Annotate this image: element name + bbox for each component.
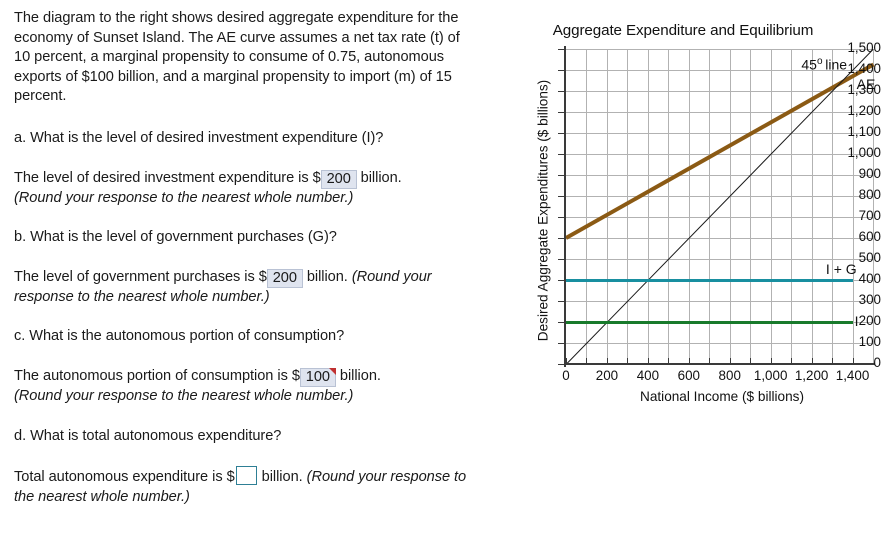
- x-axis-tick: [627, 358, 628, 365]
- gridline-vertical: [648, 49, 649, 364]
- x-axis-tick-label: 1,400: [827, 368, 879, 383]
- y-axis-line: [564, 46, 566, 367]
- y-axis-tick: [558, 343, 565, 344]
- annotation-45-line: 45o line: [801, 56, 847, 73]
- answer-d-suffix: billion.: [258, 469, 307, 485]
- y-axis-tick: [558, 364, 565, 365]
- answer-c-suffix: billion.: [336, 368, 381, 384]
- x-axis-tick: [566, 358, 567, 365]
- x-axis-tick: [812, 358, 813, 365]
- x-axis-tick: [607, 358, 608, 365]
- question-d: d. What is total autonomous expenditure?: [14, 427, 468, 447]
- y-axis-tick: [558, 301, 565, 302]
- y-axis-tick: [558, 238, 565, 239]
- x-axis-tick: [750, 358, 751, 365]
- x-axis-tick: [709, 358, 710, 365]
- y-axis-tick-label: 100: [808, 334, 890, 349]
- gridline-vertical: [730, 49, 731, 364]
- question-b: b. What is the level of government purch…: [14, 228, 468, 248]
- y-axis-tick: [558, 70, 565, 71]
- answer-line-a: The level of desired investment expendit…: [14, 169, 468, 209]
- y-axis-tick-label: 700: [808, 208, 890, 223]
- y-axis-tick: [558, 154, 565, 155]
- gridline-vertical: [668, 49, 669, 364]
- y-axis-tick-label: 900: [808, 166, 890, 181]
- y-axis-tick: [558, 196, 565, 197]
- chart-panel: Aggregate Expenditure and Equilibrium De…: [476, 0, 890, 548]
- y-axis-tick-label: 600: [808, 229, 890, 244]
- annotation-i: I: [855, 313, 859, 329]
- answer-input-c[interactable]: 100: [300, 368, 336, 387]
- gridline-vertical: [627, 49, 628, 364]
- answer-line-b: The level of government purchases is $20…: [14, 268, 468, 308]
- x-axis-tick: [648, 358, 649, 365]
- y-axis-tick: [558, 133, 565, 134]
- answer-input-b[interactable]: 200: [267, 269, 303, 288]
- x-axis-tick: [771, 358, 772, 365]
- answer-b-suffix: billion.: [303, 269, 352, 285]
- gridline-vertical: [709, 49, 710, 364]
- gridline-vertical: [791, 49, 792, 364]
- x-axis-tick: [832, 358, 833, 365]
- answer-d-prefix: Total autonomous expenditure is $: [14, 469, 235, 485]
- answer-input-d[interactable]: [236, 466, 257, 485]
- y-axis-tick-label: 300: [808, 292, 890, 307]
- problem-intro-text: The diagram to the right shows desired a…: [14, 9, 468, 107]
- y-axis-tick: [558, 280, 565, 281]
- x-axis-tick: [730, 358, 731, 365]
- problem-pane: The diagram to the right shows desired a…: [0, 0, 476, 548]
- gridline-vertical: [689, 49, 690, 364]
- y-axis-tick-label: 800: [808, 187, 890, 202]
- y-axis-tick: [558, 49, 565, 50]
- y-axis-tick: [558, 217, 565, 218]
- answer-b-prefix: The level of government purchases is $: [14, 269, 267, 285]
- annotation-i-g: I + G: [826, 261, 857, 277]
- question-c: c. What is the autonomous portion of con…: [14, 327, 468, 347]
- gridline-vertical: [586, 49, 587, 364]
- y-axis-tick: [558, 259, 565, 260]
- y-axis-tick-label: 1,300: [808, 82, 890, 97]
- y-axis-tick: [558, 112, 565, 113]
- question-a: a. What is the level of desired investme…: [14, 129, 468, 149]
- answer-a-suffix: billion.: [357, 170, 402, 186]
- answer-line-c: The autonomous portion of consumption is…: [14, 367, 468, 407]
- annotation-ae: AE: [857, 76, 876, 92]
- y-axis-tick-label: 1,500: [808, 40, 890, 55]
- x-axis-tick: [586, 358, 587, 365]
- x-axis-title: National Income ($ billions): [562, 389, 882, 404]
- y-axis-title: Desired Aggregate Expenditures ($ billio…: [536, 51, 551, 371]
- x-axis-tick: [791, 358, 792, 365]
- y-axis-tick: [558, 322, 565, 323]
- y-axis-tick-label: 1,200: [808, 103, 890, 118]
- x-axis-tick: [668, 358, 669, 365]
- round-note-c: (Round your response to the nearest whol…: [14, 388, 353, 404]
- y-axis-tick-label: 200: [808, 313, 890, 328]
- gridline-vertical: [750, 49, 751, 364]
- x-axis-tick: [853, 358, 854, 365]
- chart-title: Aggregate Expenditure and Equilibrium: [476, 22, 890, 39]
- answer-line-d: Total autonomous expenditure is $ billio…: [14, 466, 468, 507]
- y-axis-tick-label: 1,000: [808, 145, 890, 160]
- answer-a-prefix: The level of desired investment expendit…: [14, 170, 321, 186]
- x-axis-tick: [689, 358, 690, 365]
- gridline-vertical: [771, 49, 772, 364]
- y-axis-tick-label: 1,100: [808, 124, 890, 139]
- y-axis-tick: [558, 175, 565, 176]
- answer-c-prefix: The autonomous portion of consumption is…: [14, 368, 300, 384]
- answer-input-a[interactable]: 200: [321, 170, 357, 189]
- round-note-a: (Round your response to the nearest whol…: [14, 190, 353, 206]
- gridline-vertical: [607, 49, 608, 364]
- y-axis-tick: [558, 91, 565, 92]
